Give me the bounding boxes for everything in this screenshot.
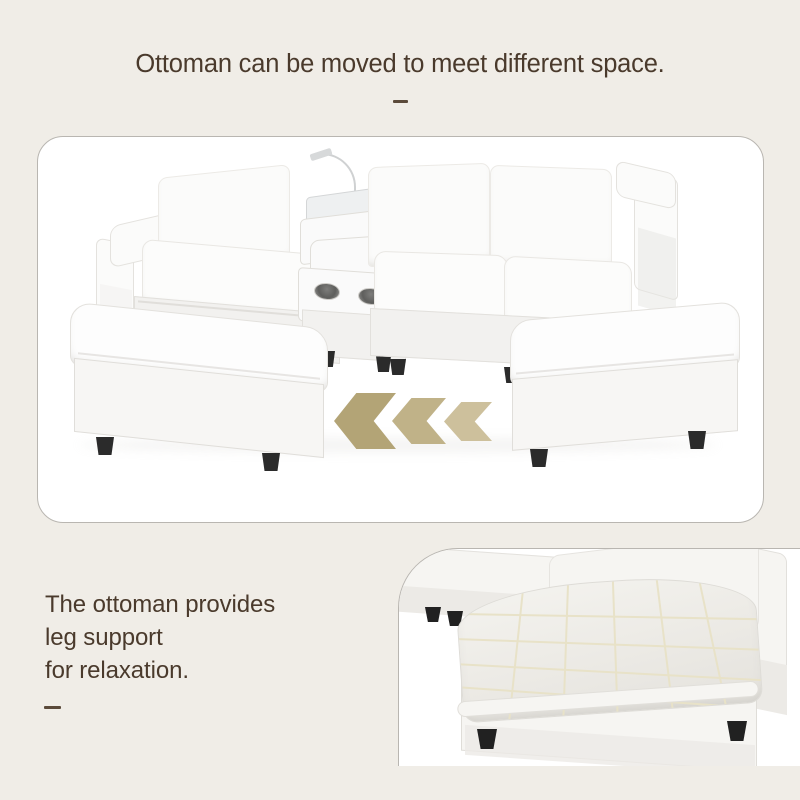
ottoman-left-foot-1 xyxy=(96,437,114,455)
ottoman-right-foot-1 xyxy=(530,449,548,467)
console-foot-right xyxy=(376,356,391,372)
caption-line-3: for relaxation. xyxy=(45,654,385,687)
quilt-line-h1 xyxy=(455,613,763,621)
divider-dash-top xyxy=(393,100,408,103)
main-product-panel xyxy=(37,136,764,523)
right-arm-shade xyxy=(638,228,676,317)
ottoman-right-foot-2 xyxy=(688,431,706,449)
chevron-icon-1 xyxy=(334,393,396,449)
product-feature-page: Ottoman can be moved to meet different s… xyxy=(0,0,800,800)
sofa-foot-center xyxy=(390,359,406,375)
background-sofa-foot-1 xyxy=(425,607,441,622)
inset-detail-panel xyxy=(398,548,800,766)
right-arm-top xyxy=(616,160,676,210)
sofa-illustration xyxy=(38,137,763,522)
quilt-line-h2 xyxy=(455,637,763,651)
caption-line-2: leg support xyxy=(45,621,385,654)
caption-block: The ottoman provides leg support for rel… xyxy=(45,588,385,687)
direction-arrows xyxy=(334,393,504,449)
page-title: Ottoman can be moved to meet different s… xyxy=(0,50,800,79)
ottoman-closeup-illustration xyxy=(399,549,800,766)
caption-line-1: The ottoman provides xyxy=(45,588,385,621)
ottoman-left-foot-2 xyxy=(262,453,280,471)
divider-dash-bottom xyxy=(44,706,61,709)
chevron-icon-2 xyxy=(392,398,446,444)
back-cushion-right xyxy=(490,165,612,269)
chevron-icon-3 xyxy=(444,402,492,441)
reading-lamp-arm xyxy=(322,153,356,195)
